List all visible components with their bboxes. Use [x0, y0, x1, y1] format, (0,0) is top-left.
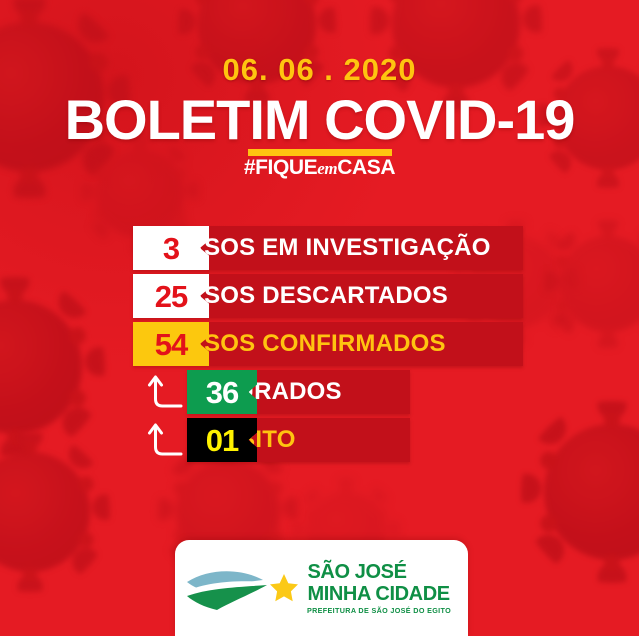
virus-particle-icon [0, 452, 90, 572]
stat-row: 54CASOS CONFIRMADOS [0, 322, 639, 366]
logo-subtitle: PREFEITURA DE SÃO JOSÉ DO EGITO [307, 607, 451, 615]
stat-value-box: 36 [187, 370, 257, 414]
stat-value-box: 01 [187, 418, 257, 462]
stat-row: 25CASOS DESCARTADOS [0, 274, 639, 318]
stat-row: 01ÓBITO [0, 418, 639, 462]
curved-arrow-icon [147, 421, 187, 461]
bulletin-date: 06. 06 . 2020 [0, 54, 639, 85]
curved-arrow-icon [147, 373, 187, 413]
city-logo-panel: SÃO JOSÉ MINHA CIDADE PREFEITURA DE SÃO … [175, 540, 468, 636]
stat-row: 3CASOS EM INVESTIGAÇÃO [0, 226, 639, 270]
hashtag-suffix: CASA [337, 156, 395, 179]
stat-value-box: 54 [133, 322, 209, 366]
hashtag-prefix: #FIQUE [244, 156, 317, 179]
swoosh-star-logo-icon [185, 560, 305, 616]
hashtag-stay-home: #FIQUEemCASA [244, 157, 395, 179]
covid-bulletin-poster: 06. 06 . 2020 BOLETIM COVID-19 #FIQUEemC… [0, 0, 639, 636]
stat-value-box: 25 [133, 274, 209, 318]
stat-row: 36CURADOS [0, 370, 639, 414]
hashtag-underline-bar [248, 149, 392, 156]
hashtag-block: #FIQUEemCASA [0, 149, 639, 179]
stat-value-box: 3 [133, 226, 209, 270]
logo-line-1: SÃO JOSÉ [307, 562, 457, 582]
page-title: BOLETIM COVID-19 [0, 91, 639, 148]
city-logo-text: SÃO JOSÉ MINHA CIDADE PREFEITURA DE SÃO … [307, 562, 457, 615]
poster-header: 06. 06 . 2020 BOLETIM COVID-19 #FIQUEemC… [0, 54, 639, 179]
hashtag-em: em [317, 159, 337, 178]
statistics-list: 3CASOS EM INVESTIGAÇÃO25CASOS DESCARTADO… [0, 226, 639, 466]
logo-line-2: MINHA CIDADE [307, 584, 457, 604]
